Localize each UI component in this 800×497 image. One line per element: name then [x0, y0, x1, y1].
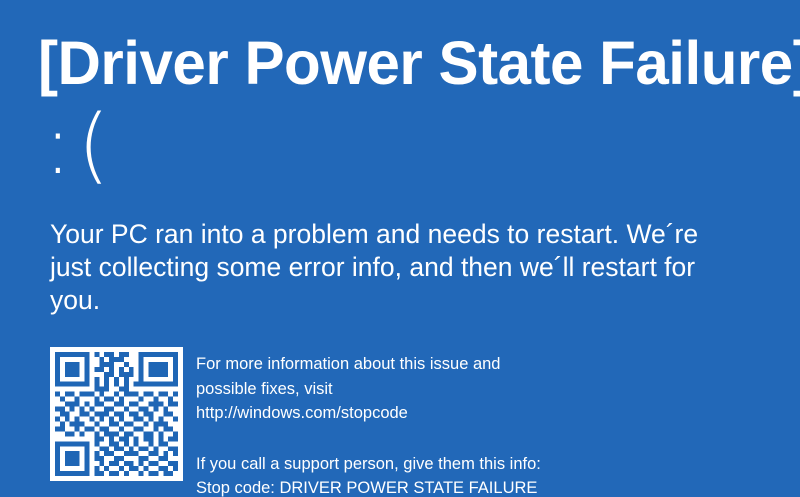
- main-error-message: Your PC ran into a problem and needs to …: [50, 218, 722, 317]
- qr-code-canvas: [50, 347, 183, 481]
- details-section: For more information about this issue an…: [50, 347, 770, 487]
- bsod-screen: [Driver Power State Failure] :( Your PC …: [0, 0, 800, 497]
- page-title: [Driver Power State Failure]: [38, 26, 767, 100]
- support-info-text: If you call a support person, give them …: [196, 452, 756, 497]
- sad-face-icon: :(: [44, 96, 116, 196]
- qr-code: [50, 347, 183, 481]
- info-block: For more information about this issue an…: [196, 352, 756, 497]
- more-information-text: For more information about this issue an…: [196, 352, 756, 426]
